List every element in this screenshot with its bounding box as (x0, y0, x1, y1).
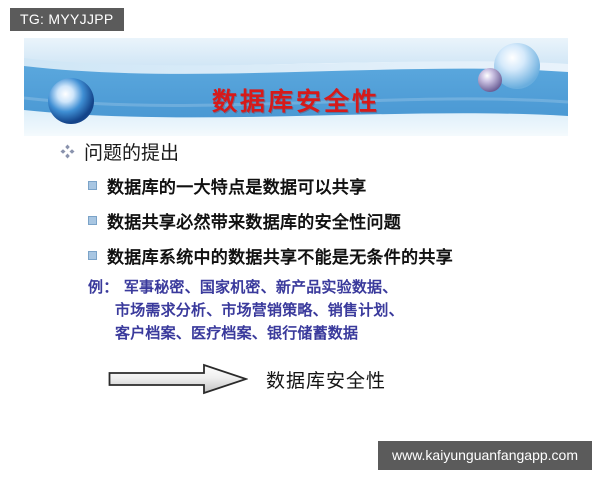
bullet-point-3: 数据库系统中的数据共享不能是无条件的共享 (88, 240, 600, 270)
example-text-block: 例： 军事秘密、国家机密、新产品实验数据、 市场需求分析、市场营销策略、销售计划… (88, 276, 600, 345)
right-block-arrow-icon (108, 363, 248, 395)
content-heading-label: 问题的提出 (84, 138, 179, 165)
bullet-point-1: 数据库的一大特点是数据可以共享 (88, 170, 600, 200)
bullet-point-2: 数据共享必然带来数据库的安全性问题 (88, 205, 600, 235)
bullet-point-3-label: 数据库系统中的数据共享不能是无条件的共享 (107, 243, 453, 268)
example-line-1: 例： 军事秘密、国家机密、新产品实验数据、 (88, 276, 600, 299)
square-bullet-icon (88, 251, 97, 260)
example-line-3: 客户档案、医疗档案、银行储蓄数据 (88, 322, 600, 345)
bullet-point-1-label: 数据库的一大特点是数据可以共享 (107, 173, 367, 198)
slide-title: 数据库安全性 (24, 82, 568, 118)
footer-watermark: www.kaiyunguanfangapp.com (378, 441, 592, 470)
tg-tag-overlay: TG: MYYJJPP (10, 8, 124, 31)
square-bullet-icon (88, 181, 97, 190)
slide-banner: 数据库安全性 (24, 38, 568, 136)
slide-content: 问题的提出 数据库的一大特点是数据可以共享 数据共享必然带来数据库的安全性问题 … (0, 136, 600, 395)
diamond-cluster-icon (60, 144, 75, 159)
bullet-point-2-label: 数据共享必然带来数据库的安全性问题 (107, 208, 401, 233)
content-heading: 问题的提出 (60, 136, 600, 166)
conclusion-row: 数据库安全性 (108, 363, 600, 395)
example-line-2: 市场需求分析、市场营销策略、销售计划、 (88, 299, 600, 322)
presentation-slide: 数据库安全性 问题的提出 数据库的一大特点是数据可以共享 数据共享必然带来数据库… (0, 0, 600, 480)
square-bullet-icon (88, 216, 97, 225)
conclusion-label: 数据库安全性 (266, 366, 386, 393)
